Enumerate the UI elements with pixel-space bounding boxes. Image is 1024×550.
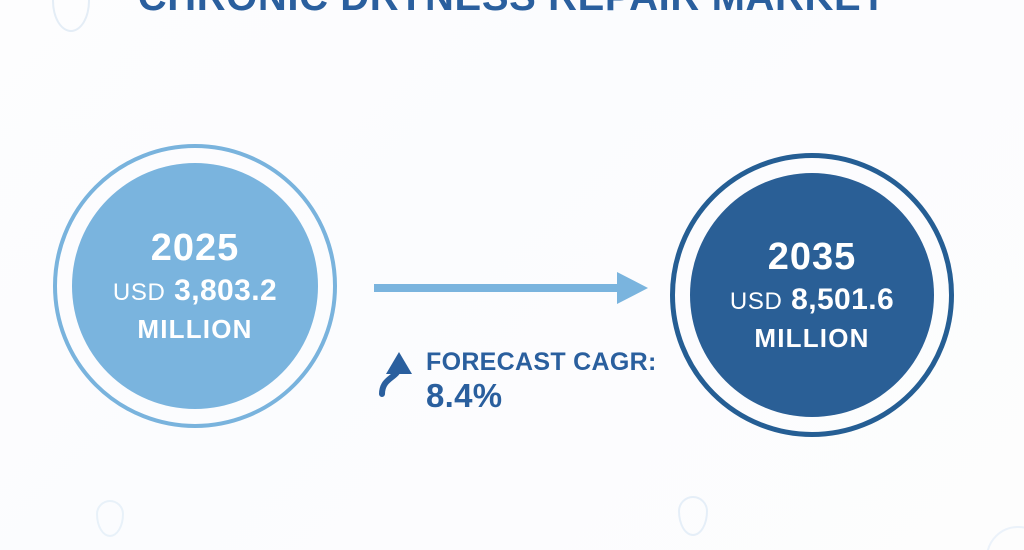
infographic-canvas: CHRONIC DRYNESS REPAIR MARKET 2025 USD 3… (0, 0, 1024, 550)
end-circle-disc: 2035 USD 8,501.6 MILLION (690, 173, 934, 417)
end-amount-label: 8,501.6 (791, 283, 894, 316)
start-value-label: USD 3,803.2 (113, 272, 277, 312)
cagr-value: 8.4% (426, 377, 657, 414)
start-unit-label: MILLION (137, 312, 252, 346)
end-year-label: 2035 (768, 235, 857, 279)
page-title: CHRONIC DRYNESS REPAIR MARKET (0, 0, 1024, 20)
water-droplet-icon (678, 496, 708, 536)
end-currency-label: USD (730, 288, 782, 315)
end-year-circle: 2035 USD 8,501.6 MILLION (670, 153, 954, 437)
right-arrow-icon (372, 266, 650, 310)
start-year-circle: 2025 USD 3,803.2 MILLION (53, 144, 337, 428)
forecast-cagr-callout: FORECAST CAGR: 8.4% (378, 348, 657, 414)
circle-outline-icon (986, 526, 1024, 550)
cagr-text-group: FORECAST CAGR: 8.4% (426, 348, 657, 414)
cagr-label: FORECAST CAGR: (426, 348, 657, 377)
start-currency-label: USD (113, 279, 165, 306)
water-droplet-icon (96, 500, 124, 537)
start-amount-label: 3,803.2 (174, 274, 277, 307)
curved-up-arrow-icon (378, 352, 418, 398)
start-circle-disc: 2025 USD 3,803.2 MILLION (72, 163, 318, 409)
end-unit-label: MILLION (754, 321, 869, 355)
start-year-label: 2025 (151, 226, 240, 270)
end-value-label: USD 8,501.6 (730, 281, 894, 321)
